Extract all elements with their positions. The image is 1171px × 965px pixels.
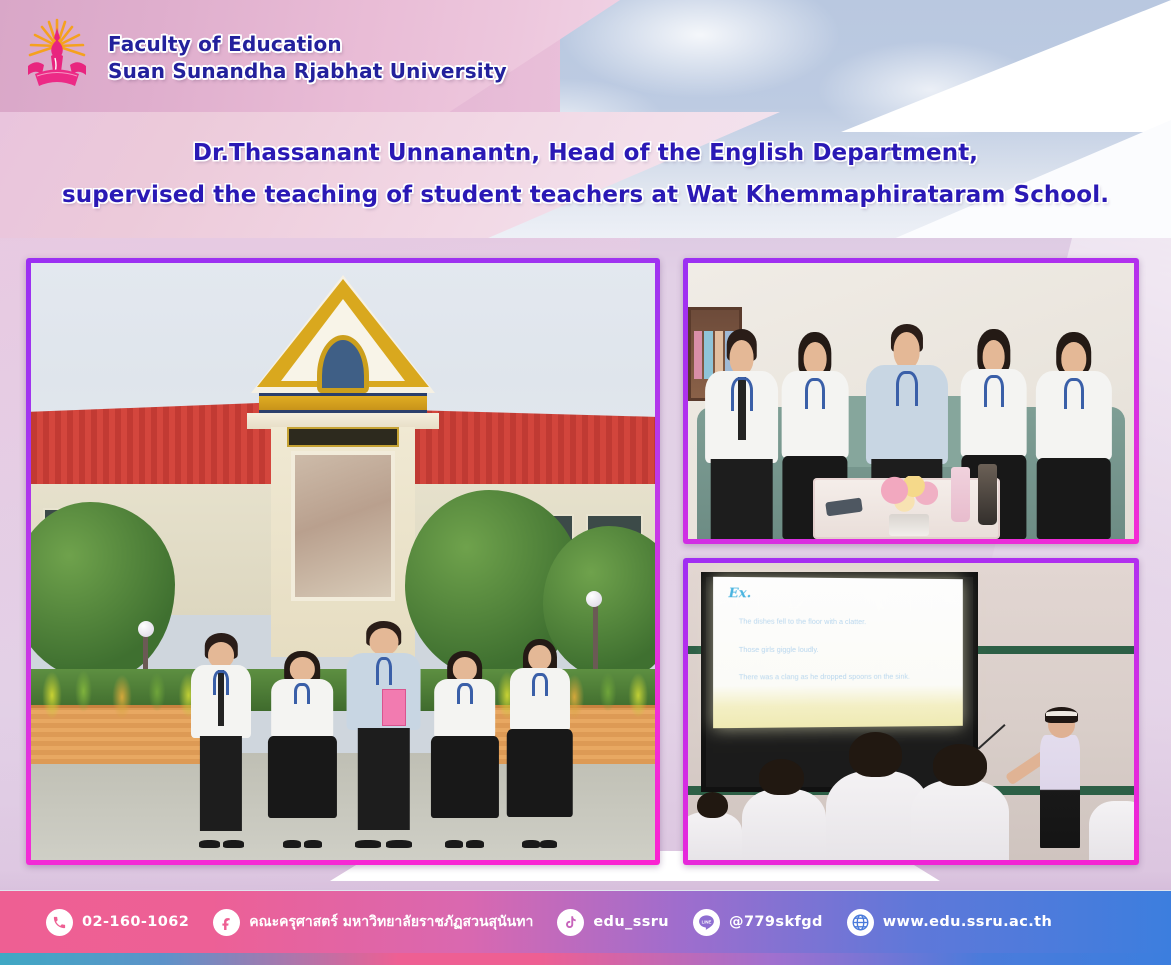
photo-lamp-globe	[138, 621, 154, 637]
photo-student	[688, 812, 742, 860]
slide-line-1: The dishes fell to the floor with a clat…	[739, 616, 953, 626]
photo-student	[1089, 801, 1134, 860]
photo-foliage	[31, 645, 206, 729]
slide-line-2: Those girls giggle loudly.	[739, 645, 953, 654]
brand-university-line: Suan Sunandha Rjabhat University	[108, 59, 507, 83]
photo-student-head	[933, 744, 987, 786]
line-icon: LINE	[693, 909, 720, 936]
photo-shrine-glass-case	[291, 451, 395, 601]
phone-icon	[46, 909, 73, 936]
photo-teacher	[1040, 735, 1080, 848]
photo-student-head	[759, 759, 804, 795]
brand-title: Faculty of Education Suan Sunandha Rjabh…	[108, 32, 507, 83]
photo-frame-top-right[interactable]	[683, 258, 1139, 544]
page-title: Dr.Thassanant Unnanantn, Head of the Eng…	[0, 132, 1171, 216]
slide-line-3: There was a clang as he dropped spoons o…	[739, 671, 953, 681]
photo-pink-folder	[382, 689, 406, 725]
photo-person	[424, 651, 505, 848]
photo-flower-bouquet	[880, 476, 938, 517]
photo-student-head	[697, 792, 728, 819]
slide-heading: Ex.	[728, 586, 751, 601]
poster-canvas: Faculty of Education Suan Sunandha Rjabh…	[0, 0, 1171, 965]
photo-person	[499, 639, 580, 848]
photo-frame-main[interactable]	[26, 258, 660, 865]
footer-phone-label: 02-160-1062	[82, 914, 189, 930]
photo-student	[742, 789, 827, 860]
tiktok-icon	[557, 909, 584, 936]
footer-item-website[interactable]: www.edu.ssru.ac.th	[847, 909, 1052, 936]
footer-item-phone[interactable]: 02-160-1062	[46, 909, 189, 936]
photo-shrine-plaque	[287, 427, 399, 447]
photo-person-supervisor	[337, 621, 431, 848]
photo-frame-bottom-right[interactable]: Ex. The dishes fell to the floor with a …	[683, 558, 1139, 865]
photo-student	[911, 780, 1009, 860]
page-title-line-2: supervised the teaching of student teach…	[0, 174, 1171, 216]
photo-person	[181, 633, 262, 848]
ssru-crest-icon	[22, 16, 92, 98]
photo-person	[1031, 332, 1116, 539]
footer-website-label: www.edu.ssru.ac.th	[883, 914, 1052, 930]
page-header: Faculty of Education Suan Sunandha Rjabh…	[0, 0, 620, 114]
footer-item-facebook[interactable]: คณะครุศาสตร์ มหาวิทยาลัยราชภัฏสวนสุนันทา	[213, 909, 533, 936]
photo-teacher-headband	[1046, 711, 1077, 716]
photo-student-head	[849, 732, 903, 777]
photo-flower-vase	[889, 514, 929, 536]
footer-tiktok-label: edu_ssru	[593, 914, 669, 930]
photo-projector-screen: Ex. The dishes fell to the floor with a …	[713, 577, 962, 728]
svg-text:LINE: LINE	[702, 919, 712, 924]
facebook-icon	[213, 909, 240, 936]
photo-tumbler	[951, 467, 970, 522]
footer-accent-strip	[0, 953, 1171, 965]
photo-person	[701, 329, 781, 539]
brand-faculty-line: Faculty of Education	[108, 32, 507, 56]
footer-contact-list: 02-160-1062 คณะครุศาสตร์ มหาวิทยาลัยราชภ…	[0, 909, 1052, 936]
photo-shrine-lintel	[259, 393, 427, 413]
photo-person	[262, 651, 343, 848]
footer-facebook-label: คณะครุศาสตร์ มหาวิทยาลัยราชภัฏสวนสุนันทา	[249, 911, 533, 933]
footer-item-tiktok[interactable]: edu_ssru	[557, 909, 669, 936]
globe-icon	[847, 909, 874, 936]
footer-item-line[interactable]: LINE @779skfgd	[693, 909, 823, 936]
photo-tumbler	[978, 464, 997, 525]
meeting-photo-on-sofa	[688, 263, 1134, 539]
page-title-line-1: Dr.Thassanant Unnanantn, Head of the Eng…	[0, 132, 1171, 174]
group-photo-at-temple-shrine	[31, 263, 655, 860]
footer-line-label: @779skfgd	[729, 914, 823, 930]
classroom-teaching-photo: Ex. The dishes fell to the floor with a …	[688, 563, 1134, 860]
contact-footer: 02-160-1062 คณะครุศาสตร์ มหาวิทยาลัยราชภ…	[0, 891, 1171, 953]
